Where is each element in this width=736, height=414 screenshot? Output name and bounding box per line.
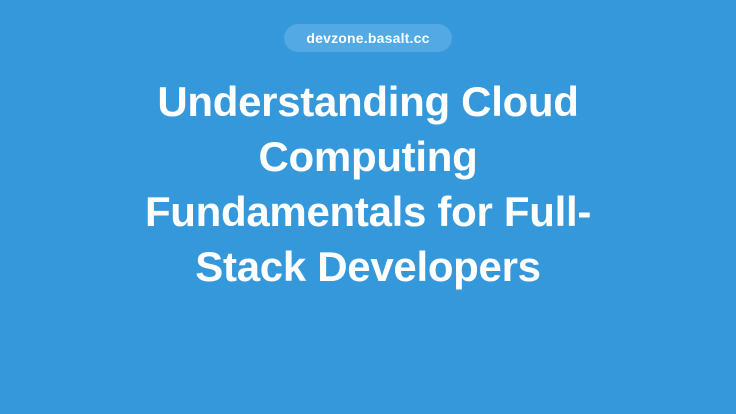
social-share-card: devzone.basalt.cc Understanding Cloud Co… [0,0,736,414]
page-title: Understanding Cloud Computing Fundamenta… [128,74,608,294]
title-block: Understanding Cloud Computing Fundamenta… [0,74,736,294]
site-domain-badge: devzone.basalt.cc [284,24,451,52]
